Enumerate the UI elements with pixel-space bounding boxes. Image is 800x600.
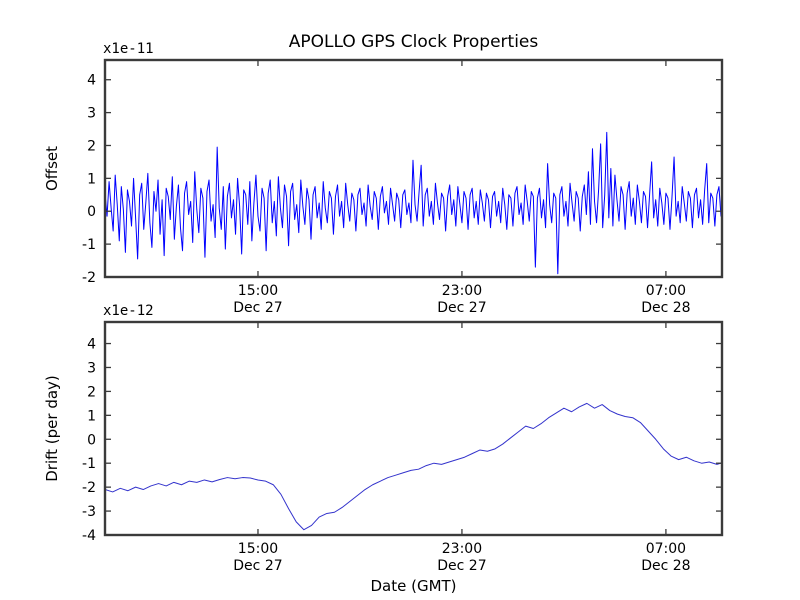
- y-tick-label: 2: [87, 384, 96, 400]
- figure-canvas: APOLLO GPS Clock Properties-2-10123415:0…: [0, 0, 800, 600]
- offset-panel-group: -2-10123415:00Dec 2723:00Dec 2707:00Dec …: [43, 41, 722, 316]
- x-tick-label: 15:00: [238, 541, 278, 557]
- offset-panel-y-exponent: x1e-11: [103, 41, 154, 57]
- x-tick-label: 07:00: [646, 283, 686, 299]
- drift-panel-y-exponent: x1e-12: [103, 303, 154, 319]
- drift-panel-frame: [105, 322, 722, 535]
- drift-panel-y-axis-label: Drift (per day): [43, 375, 61, 482]
- series-offset: [105, 132, 721, 273]
- x-tick-label: Dec 28: [641, 300, 690, 316]
- x-tick-label: Dec 27: [437, 558, 486, 574]
- y-tick-label: -2: [82, 270, 96, 286]
- y-tick-label: 1: [87, 171, 96, 187]
- gps-clock-properties-chart: APOLLO GPS Clock Properties-2-10123415:0…: [0, 0, 800, 600]
- y-tick-label: 4: [87, 337, 96, 353]
- y-tick-label: -2: [82, 480, 96, 496]
- y-tick-label: 0: [87, 204, 96, 220]
- y-tick-label: 2: [87, 138, 96, 154]
- y-tick-label: 3: [87, 106, 96, 122]
- y-tick-label: -1: [82, 237, 96, 253]
- x-tick-label: 23:00: [442, 541, 482, 557]
- offset-panel-y-axis-label: Offset: [43, 146, 61, 191]
- drift-panel-group: -4-3-2-10123415:00Dec 2723:00Dec 2707:00…: [43, 303, 722, 595]
- x-tick-label: 15:00: [238, 283, 278, 299]
- x-tick-label: 23:00: [442, 283, 482, 299]
- y-tick-label: 1: [87, 408, 96, 424]
- y-tick-label: 4: [87, 73, 96, 89]
- chart-title: APOLLO GPS Clock Properties: [289, 32, 539, 52]
- x-tick-label: Dec 27: [233, 558, 282, 574]
- y-tick-label: -4: [82, 528, 96, 544]
- y-tick-label: 3: [87, 360, 96, 376]
- series-drift: [105, 403, 721, 529]
- x-tick-label: 07:00: [646, 541, 686, 557]
- x-tick-label: Dec 27: [437, 300, 486, 316]
- drift-panel-x-axis-label: Date (GMT): [370, 577, 456, 595]
- y-tick-label: 0: [87, 432, 96, 448]
- y-tick-label: -3: [82, 504, 96, 520]
- x-tick-label: Dec 28: [641, 558, 690, 574]
- y-tick-label: -1: [82, 456, 96, 472]
- x-tick-label: Dec 27: [233, 300, 282, 316]
